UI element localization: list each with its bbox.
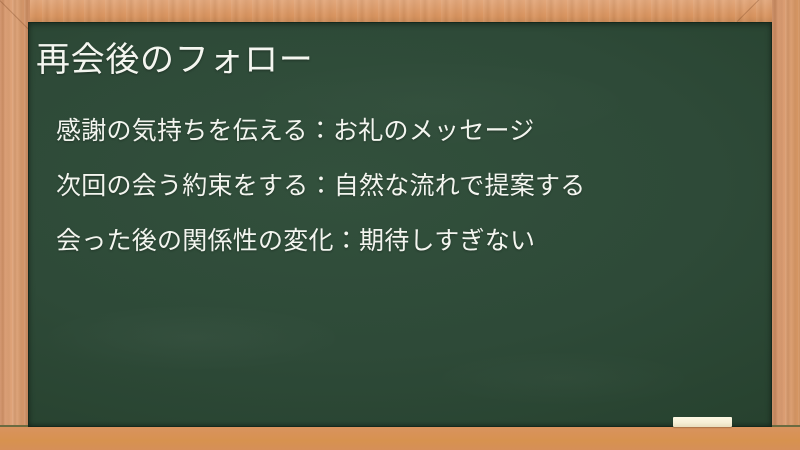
frame-rail-left [0,0,30,450]
page-title: 再会後のフォロー [36,40,313,81]
chalk-stick-icon [673,417,732,427]
chalkboard-surface: 再会後のフォロー 感謝の気持ちを伝える：お礼のメッセージ 次回の会う約束をする：… [28,22,772,427]
list-item: 次回の会う約束をする：自然な流れで提案する [56,159,586,214]
bullet-list: 感謝の気持ちを伝える：お礼のメッセージ 次回の会う約束をする：自然な流れで提案す… [56,104,586,269]
frame-rail-top [0,0,800,22]
list-item: 会った後の関係性の変化：期待しすぎない [56,214,586,269]
board-content: 再会後のフォロー 感謝の気持ちを伝える：お礼のメッセージ 次回の会う約束をする：… [28,22,772,427]
chalkboard-slide: 再会後のフォロー 感謝の気持ちを伝える：お礼のメッセージ 次回の会う約束をする：… [0,0,800,450]
frame-rail-right [772,0,800,450]
frame-ledge-bottom [0,425,800,450]
list-item: 感謝の気持ちを伝える：お礼のメッセージ [56,104,586,159]
